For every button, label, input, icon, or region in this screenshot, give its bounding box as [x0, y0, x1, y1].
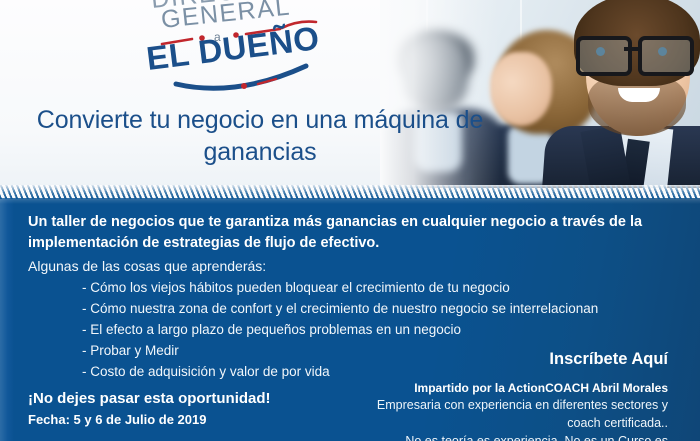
- event-date: Fecha: 5 y 6 de Julio de 2019: [28, 412, 206, 427]
- bio-line-2: coach certificada..: [368, 415, 668, 433]
- page-title: Convierte tu negocio en una máquina de g…: [0, 104, 520, 168]
- presenter-bio: Empresaria con experiencia en diferentes…: [368, 397, 668, 441]
- signup-heading[interactable]: Inscríbete Aquí: [549, 350, 668, 369]
- bio-line-3: No es teoría es experiencia. No es un Cu…: [368, 433, 668, 441]
- bio-line-1: Empresaria con experiencia en diferentes…: [368, 397, 668, 415]
- call-to-action-text: ¡No dejes pasar esta oportunidad!: [28, 390, 271, 407]
- eyeglasses-icon: [576, 36, 694, 70]
- brand-logo: DIRECTOR GENERAL a EL DUEÑO: [140, 0, 330, 94]
- person-back-hair: [396, 30, 474, 82]
- lead-paragraph: Un taller de negocios que te garantiza m…: [28, 212, 673, 253]
- person-back-head: [402, 38, 468, 112]
- blue-content-panel: Un taller de negocios que te garantiza m…: [0, 198, 700, 441]
- striped-divider: [0, 185, 700, 199]
- learn-intro-label: Algunas de las cosas que aprenderás:: [28, 258, 266, 274]
- promotional-flyer: DIRECTOR GENERAL a EL DUEÑO: [0, 0, 700, 441]
- panel-left-edge: [0, 198, 14, 441]
- list-item: - Cómo los viejos hábitos pueden bloquea…: [82, 278, 682, 299]
- top-section: DIRECTOR GENERAL a EL DUEÑO: [0, 0, 700, 188]
- list-item: - El efecto a largo plazo de pequeños pr…: [82, 320, 682, 341]
- presenter-name: Impartido por la ActionCOACH Abril Moral…: [378, 381, 668, 395]
- list-item: - Cómo nuestra zona de confort y el crec…: [82, 299, 682, 320]
